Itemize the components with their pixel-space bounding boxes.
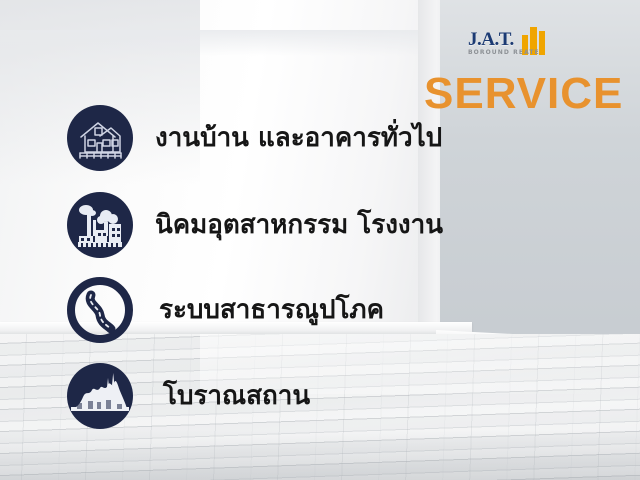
service-label: โบราณสถาน (163, 383, 310, 409)
company-logo[interactable]: J.A.T. BOROUND REATE (468, 27, 558, 61)
service-item-house[interactable]: งานบ้าน และอาคารทั่วไป (0, 105, 442, 171)
logo-wordmark: J.A.T. (468, 29, 514, 51)
page-title: SERVICE (424, 72, 623, 116)
house-outline-icon (67, 105, 133, 171)
service-item-industrial[interactable]: นิคมอุตสาหกรรม โรงงาน (0, 192, 443, 258)
floor-vignette (0, 430, 640, 480)
service-label: ระบบสาธารณูปโภค (159, 297, 384, 323)
ancient-temple-icon (67, 363, 133, 429)
factory-icon (67, 192, 133, 258)
service-label: นิคมอุตสาหกรรม โรงงาน (155, 212, 443, 238)
service-item-heritage[interactable]: โบราณสถาน (0, 363, 310, 429)
service-banner: J.A.T. BOROUND REATE SERVICE (0, 0, 640, 480)
service-item-utilities[interactable]: ระบบสาธารณูปโภค (0, 277, 384, 343)
service-label: งานบ้าน และอาคารทั่วไป (155, 125, 442, 151)
winding-road-ring-icon (67, 277, 133, 343)
logo-subtitle: BOROUND REATE (468, 49, 540, 56)
ceiling-edge (0, 30, 470, 56)
